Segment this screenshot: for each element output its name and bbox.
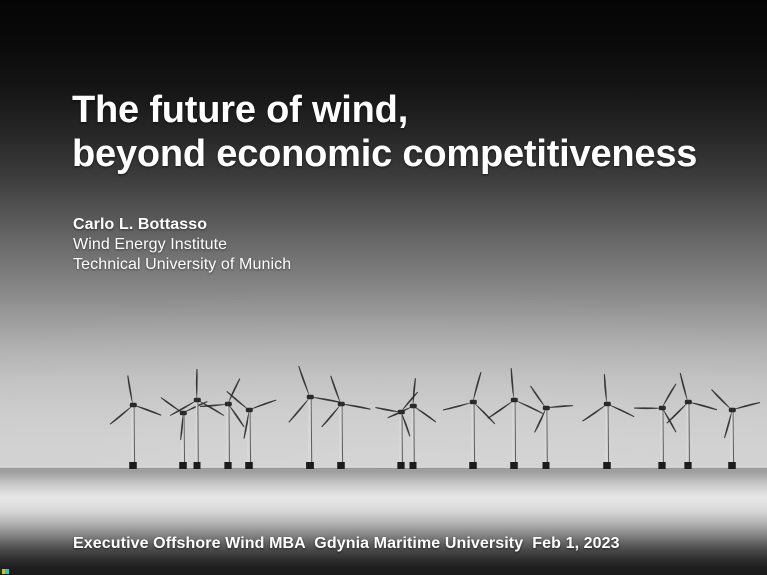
slide-footer: Executive Offshore Wind MBA Gdynia Marit… <box>73 535 620 553</box>
page-title: The future of wind, beyond economic comp… <box>72 88 712 176</box>
corner-artifact <box>0 569 9 574</box>
author-name: Carlo L. Bottasso <box>73 215 291 235</box>
water-gradient <box>0 470 767 575</box>
author-block: Carlo L. Bottasso Wind Energy Institute … <box>73 215 291 275</box>
author-affiliation-institute: Wind Energy Institute <box>73 235 291 255</box>
author-affiliation-university: Technical University of Munich <box>73 255 291 275</box>
title-slide: The future of wind, beyond economic comp… <box>0 0 767 575</box>
